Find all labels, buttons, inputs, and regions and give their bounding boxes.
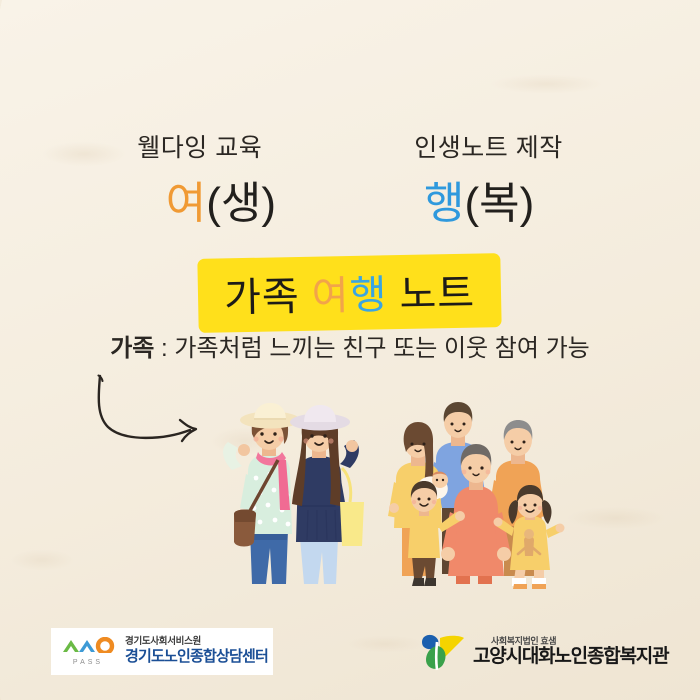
big-word-accent-yeo: 여 [166,179,206,228]
subtitle: 가족 : 가족처럼 느끼는 친구 또는 이웃 참여 가능 [0,328,700,363]
big-word-rest-saeng: (생) [206,179,276,228]
illustration-two-women-travelers [204,398,376,588]
big-word-accent-haeng: 행 [424,179,464,228]
big-word-haengbok: 행(복) [424,182,534,226]
pass-mark-icon [61,637,115,653]
logo-gyeonggi-senior-center: PASS 경기도사회서비스원 경기도노인종합상담센터 [51,628,273,675]
logo-left-text-block: 경기도사회서비스원 경기도노인종합상담센터 [125,637,268,665]
logo-left-line2: 경기도노인종합상담센터 [125,648,268,665]
title-part-note: 노트 [387,272,476,318]
header-label-lifenote: 인생노트 제작 [414,128,562,164]
title-accent-yeo: 여 [312,274,351,319]
subtitle-strong-gajok: 가족 [110,335,154,362]
subtitle-rest: : 가족처럼 느끼는 친구 또는 이웃 참여 가능 [154,335,589,362]
poster-canvas: 웰다잉 교육 인생노트 제작 여(생) 행(복) 가족 여행 노트 가족 : 가… [0,0,700,700]
big-word-row: 여(생) 행(복) [0,182,700,226]
pass-wordmark: PASS [60,659,116,666]
logo-left-line1: 경기도사회서비스원 [125,637,268,648]
pass-logo-mark: PASS [60,637,116,666]
logo-right-line2: 고양시대화노인종합복지관 [473,647,668,668]
logo-goyang-daehwa-center: 사회복지법인 효샘 고양시대화노인종합복지관 [420,630,672,674]
page-title: 가족 여행 노트 [224,261,476,324]
title-part-gajok: 가족 [224,275,313,321]
big-word-rest-bok: (복) [464,179,534,228]
big-word-yeosaeng: 여(생) [166,182,276,226]
header-label-welldying: 웰다잉 교육 [137,128,262,164]
illustration-band [0,398,700,598]
illustration-extended-family [384,398,570,590]
page-title-wrapper: 가족 여행 노트 [0,256,700,330]
logo-right-text-block: 사회복지법인 효샘 고양시대화노인종합복지관 [473,637,668,668]
title-accent-haeng: 행 [350,273,389,318]
hyosaem-leaf-mark-icon [420,632,466,672]
title-highlight-band: 가족 여행 노트 [198,253,502,333]
header-label-row: 웰다잉 교육 인생노트 제작 [0,128,700,164]
